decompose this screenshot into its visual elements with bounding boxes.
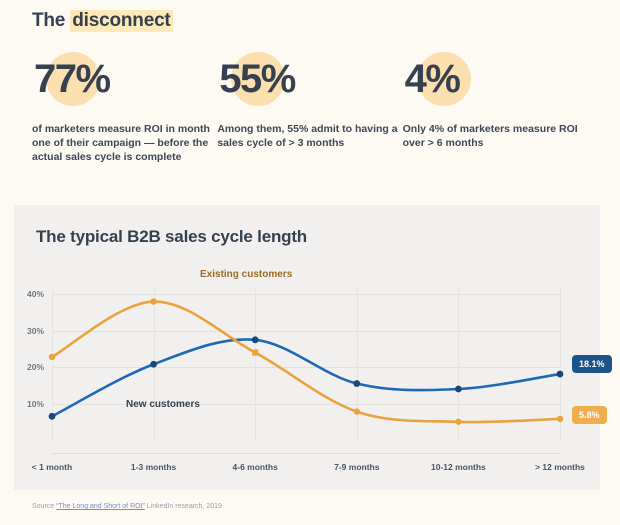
stat-value-2: 55% xyxy=(217,59,295,99)
data-point xyxy=(49,354,55,360)
x-axis-tick-label: 7-9 months xyxy=(334,462,379,472)
chart-x-axis-line xyxy=(52,453,560,454)
data-point xyxy=(252,336,259,343)
y-axis-tick-label: 10% xyxy=(27,399,44,409)
stat-value-1: 77% xyxy=(32,59,110,99)
source-prefix: Source xyxy=(32,503,56,510)
data-point xyxy=(150,298,156,304)
x-axis-tick-label: 1-3 months xyxy=(131,462,176,472)
stats-row: 77% of marketers measure ROI in month on… xyxy=(32,52,588,164)
stat-description-3: Only 4% of marketers measure ROI over > … xyxy=(403,122,588,150)
data-point xyxy=(455,419,461,425)
stat-card-2: 55% Among them, 55% admit to having a sa… xyxy=(217,52,402,164)
data-point xyxy=(557,371,564,378)
data-point xyxy=(557,416,563,422)
stat-value-3: 4% xyxy=(403,59,460,99)
data-point xyxy=(150,361,157,368)
x-axis-tick-label: 10-12 months xyxy=(431,462,486,472)
page-title-prefix: The xyxy=(32,10,70,31)
data-point xyxy=(353,380,360,387)
series-label-existing-customers: Existing customers xyxy=(200,269,292,280)
stat-card-3: 4% Only 4% of marketers measure ROI over… xyxy=(403,52,588,164)
page-title-highlight: disconnect xyxy=(70,10,172,32)
data-point xyxy=(354,408,360,414)
chart-plot-area: 10%20%30%40% < 1 month1-3 months4-6 mont… xyxy=(52,287,560,440)
stat-figure-2: 55% xyxy=(217,52,402,106)
chart-title: The typical B2B sales cycle length xyxy=(36,227,307,247)
y-axis-tick-label: 30% xyxy=(27,326,44,336)
stat-figure-3: 4% xyxy=(403,52,588,106)
source-suffix: LinkedIn research, 2019 xyxy=(145,503,222,510)
data-point xyxy=(49,413,56,420)
source-link[interactable]: “The Long and Short of ROI” xyxy=(56,503,145,510)
stat-description-1: of marketers measure ROI in month one of… xyxy=(32,122,217,164)
data-point xyxy=(252,349,258,355)
x-axis-tick-label: > 12 months xyxy=(535,462,585,472)
y-axis-tick-label: 40% xyxy=(27,289,44,299)
data-label-new-customers: 18.1% xyxy=(572,355,612,373)
chart-series-lines xyxy=(52,287,560,440)
x-axis-tick-label: 4-6 months xyxy=(233,462,278,472)
y-axis-tick-label: 20% xyxy=(27,362,44,372)
series-label-new-customers: New customers xyxy=(126,399,200,410)
x-axis-tick-label: < 1 month xyxy=(32,462,72,472)
stat-card-1: 77% of marketers measure ROI in month on… xyxy=(32,52,217,164)
stat-description-2: Among them, 55% admit to having a sales … xyxy=(217,122,402,150)
chart-panel: The typical B2B sales cycle length 10%20… xyxy=(14,205,600,490)
page-title: The disconnect xyxy=(32,10,173,32)
stat-figure-1: 77% xyxy=(32,52,217,106)
source-note: Source “The Long and Short of ROI” Linke… xyxy=(32,503,222,510)
data-point xyxy=(455,386,462,393)
data-label-existing-customers: 5.8% xyxy=(572,406,607,424)
